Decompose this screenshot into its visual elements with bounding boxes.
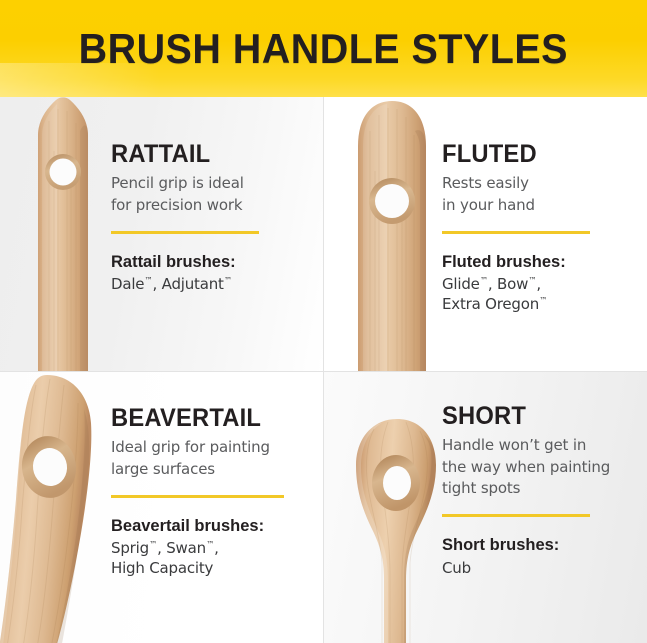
desc-line: in your hand: [442, 195, 640, 216]
desc-line: for precision work: [111, 195, 311, 216]
brushes-list-fluted: Glide™, Bow™, Extra Oregon™: [442, 274, 640, 314]
style-name-short: SHORT: [442, 403, 632, 429]
list-separator: ,: [157, 539, 166, 557]
style-name-beavertail: BEAVERTAIL: [111, 405, 306, 431]
page-title: BRUSH HANDLE STYLES: [79, 28, 568, 70]
brush-handle-styles-infographic: BRUSH HANDLE STYLES: [0, 0, 647, 643]
beavertail-brush-handle-icon: [0, 371, 108, 643]
brushes-line: Sprig™: [111, 539, 157, 557]
desc-line: Ideal grip for painting: [111, 437, 316, 458]
list-separator: ,: [536, 275, 541, 293]
style-description-fluted: Rests easily in your hand: [442, 173, 640, 216]
desc-line: Rests easily: [442, 173, 640, 194]
list-separator: ,: [488, 275, 497, 293]
yellow-divider: [442, 514, 590, 517]
brushes-line: Dale™, Adjutant™: [111, 274, 311, 294]
brushes-line: Swan™: [166, 539, 214, 557]
short-brush-handle-icon: [344, 413, 450, 643]
brushes-label-rattail: Rattail brushes:: [111, 252, 305, 272]
rattail-brush-handle-icon: [24, 97, 102, 371]
brushes-list-beavertail: Sprig™, Swan™, High Capacity: [111, 538, 316, 578]
brushes-line: Bow™: [497, 275, 536, 293]
style-description-short: Handle won’t get in the way when paintin…: [442, 435, 642, 499]
yellow-divider: [111, 231, 259, 234]
beavertail-content: BEAVERTAIL Ideal grip for painting large…: [111, 405, 316, 578]
desc-line: large surfaces: [111, 459, 316, 480]
yellow-divider: [442, 231, 590, 234]
fluted-content: FLUTED Rests easily in your hand Fluted …: [442, 141, 640, 314]
brushes-line: High Capacity: [111, 558, 316, 578]
header-banner: BRUSH HANDLE STYLES: [0, 0, 647, 97]
style-description-beavertail: Ideal grip for painting large surfaces: [111, 437, 316, 480]
brushes-line: Cub: [442, 558, 642, 578]
short-content: SHORT Handle won’t get in the way when p…: [442, 403, 642, 578]
quadrant-short: SHORT Handle won’t get in the way when p…: [324, 371, 647, 643]
desc-line: Handle won’t get in: [442, 435, 642, 456]
desc-line: Pencil grip is ideal: [111, 173, 311, 194]
desc-line: tight spots: [442, 478, 642, 499]
fluted-brush-handle-icon: [346, 97, 438, 371]
brushes-list-rattail: Dale™, Adjutant™: [111, 274, 311, 294]
brushes-list-short: Cub: [442, 558, 642, 578]
desc-line: the way when painting: [442, 457, 642, 478]
quadrant-rattail: RATTAIL Pencil grip is ideal for precisi…: [0, 97, 324, 371]
brushes-line: Extra Oregon™: [442, 294, 640, 314]
quadrant-fluted: FLUTED Rests easily in your hand Fluted …: [324, 97, 647, 371]
style-name-fluted: FLUTED: [442, 141, 630, 167]
yellow-divider: [111, 495, 284, 498]
grid-divider-vertical: [323, 97, 324, 643]
brushes-label-fluted: Fluted brushes:: [442, 252, 634, 272]
style-description-rattail: Pencil grip is ideal for precision work: [111, 173, 311, 216]
brushes-label-beavertail: Beavertail brushes:: [111, 516, 310, 536]
brushes-label-short: Short brushes:: [442, 535, 636, 555]
brushes-line: Glide™: [442, 275, 488, 293]
rattail-content: RATTAIL Pencil grip is ideal for precisi…: [111, 141, 311, 294]
list-separator: ,: [214, 539, 219, 557]
quadrant-beavertail: BEAVERTAIL Ideal grip for painting large…: [0, 371, 324, 643]
grid-divider-horizontal: [0, 371, 647, 372]
style-name-rattail: RATTAIL: [111, 141, 301, 167]
